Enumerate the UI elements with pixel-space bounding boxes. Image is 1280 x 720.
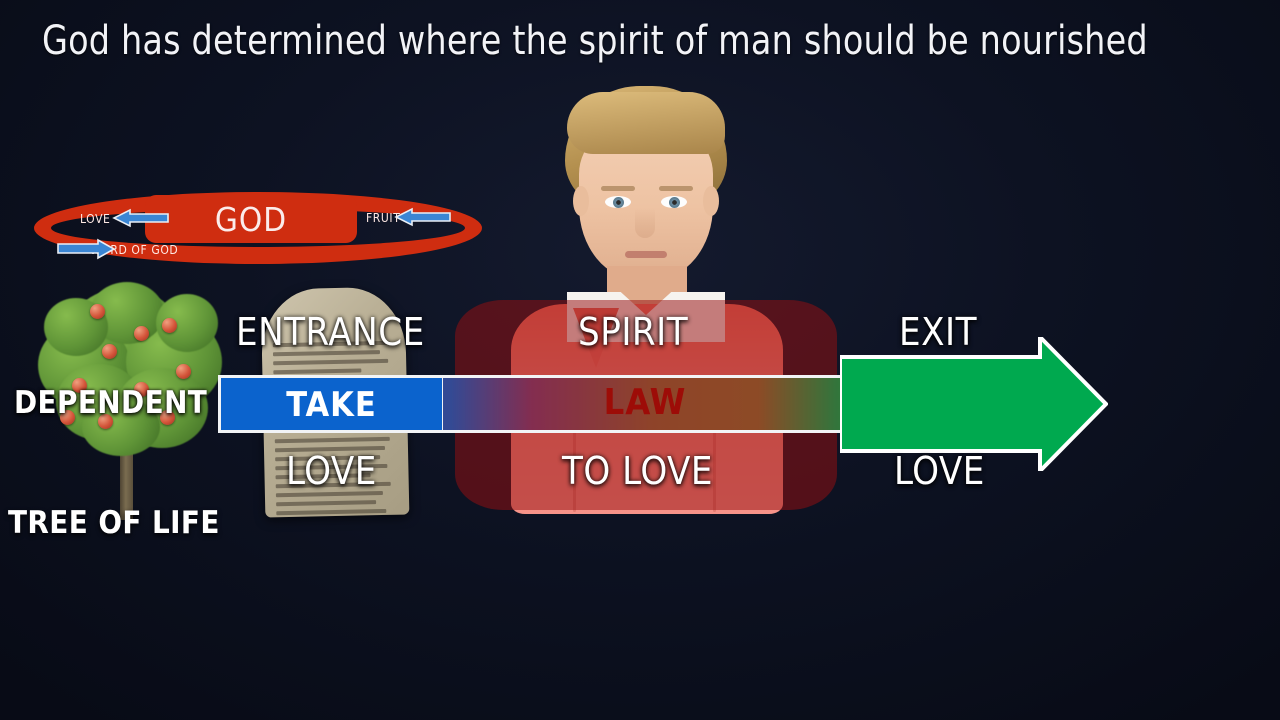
page-title: God has determined where the spirit of m…: [42, 18, 1158, 64]
eyebrow-left: [601, 186, 635, 191]
cycle-label-love: LOVE: [80, 212, 110, 226]
tree-canopy: [38, 282, 222, 458]
flow-segment-entrance-label: TAKE: [221, 385, 442, 425]
eye-left: [605, 196, 631, 208]
label-love-exit: LOVE: [894, 449, 985, 493]
label-to-love: TO LOVE: [562, 449, 713, 493]
ear-right: [703, 186, 719, 216]
label-tree-of-life: TREE OF LIFE: [8, 505, 220, 541]
eyebrow-right: [659, 186, 693, 191]
god-box: GOD: [145, 195, 357, 243]
label-spirit: SPIRIT: [578, 310, 688, 354]
label-love-entrance: LOVE: [286, 449, 377, 493]
flow-segment-middle[interactable]: LAW: [443, 375, 847, 433]
arrow-left-icon-2: [394, 207, 452, 227]
ear-left: [573, 186, 589, 216]
mouth: [625, 251, 667, 258]
flow-segment-entrance[interactable]: TAKE: [218, 375, 445, 433]
label-exit: EXIT: [899, 310, 977, 354]
label-dependent: DEPENDENT: [14, 385, 207, 421]
arrow-left-icon: [112, 208, 170, 228]
arrow-right-icon: [56, 238, 116, 260]
god-label: GOD: [215, 200, 287, 239]
god-cycle-diagram: GOD LOVE FRUIT WORD OF GOD: [28, 186, 488, 276]
slide-canvas: God has determined where the spirit of m…: [0, 0, 1280, 720]
flow-segment-middle-label: LAW: [443, 382, 847, 423]
label-entrance: ENTRANCE: [236, 310, 425, 354]
eye-right: [661, 196, 687, 208]
hair-front: [567, 92, 725, 154]
nose: [635, 208, 655, 238]
